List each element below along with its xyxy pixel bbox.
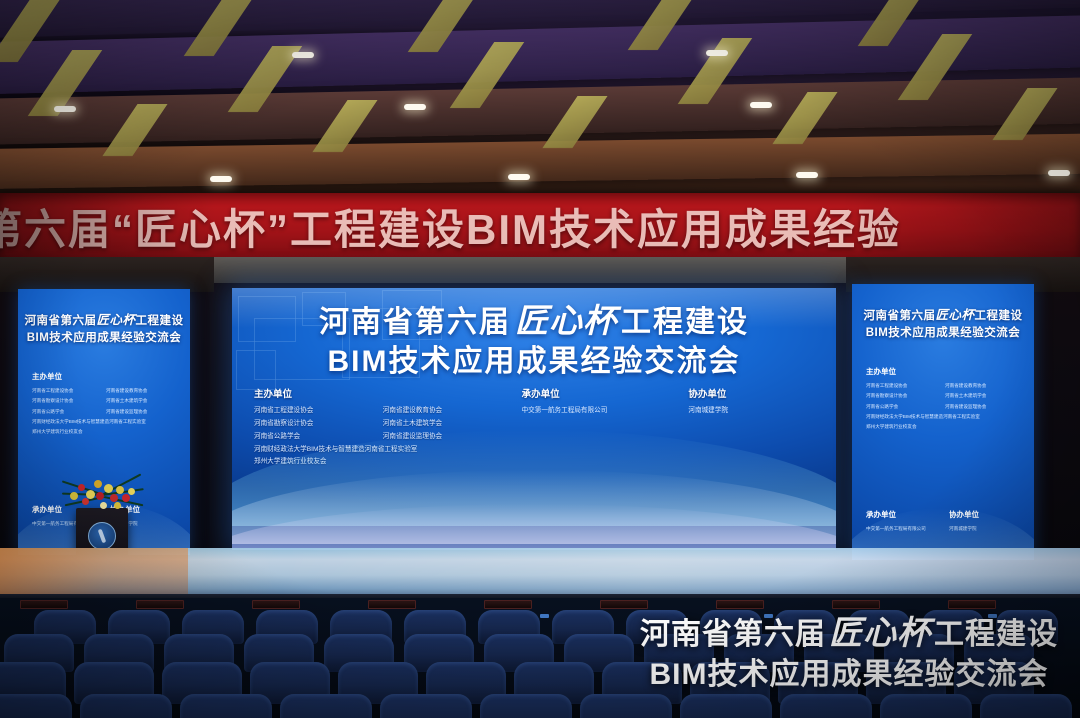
ceiling-downlight bbox=[796, 172, 818, 178]
ceiling bbox=[0, 0, 1080, 196]
coorganizer-label: 协办单位 bbox=[688, 386, 811, 400]
ceiling-downlight bbox=[210, 176, 232, 182]
list-item: 郑州大学建筑行业校友会 bbox=[866, 422, 1024, 432]
list-item: 河南财经政法大学BIM技术与智慧建造河南省工程实验室 bbox=[32, 417, 180, 427]
ceiling-downlight bbox=[404, 104, 426, 110]
right-banner-kxb: 匠心杯 bbox=[935, 308, 974, 322]
left-banner-title-part1: 河南省第六届 bbox=[24, 315, 96, 327]
wall-panel-center bbox=[214, 257, 846, 283]
right-banner-title-part1: 河南省第六届 bbox=[863, 310, 935, 322]
list-item: 河南省建设教育协会 bbox=[945, 381, 1024, 391]
list-item: 河南省工程建设协会 bbox=[254, 405, 383, 418]
undertaker-label: 承办单位 bbox=[522, 386, 679, 400]
ceiling-downlight bbox=[54, 106, 76, 112]
right-banner-title: 河南省第六届匠心杯工程建设 BIM技术应用成果经验交流会 bbox=[852, 306, 1034, 341]
ceiling-downlight bbox=[292, 52, 314, 58]
led-main-title: 河南省第六届匠心杯工程建设 BIM技术应用成果经验交流会 bbox=[232, 302, 836, 381]
right-banner-title-line2: BIM技术应用成果经验交流会 bbox=[866, 327, 1021, 339]
overlay-line2: BIM技术应用成果经验交流会 bbox=[640, 655, 1058, 694]
led-title-part1: 河南省第六届 bbox=[319, 306, 511, 339]
list-item: 郑州大学建筑行业校友会 bbox=[32, 427, 180, 437]
list-item: 河南财经政法大学BIM技术与智慧建造河南省工程实验室 bbox=[866, 412, 1024, 422]
list-item: 中交第一航务工程局有限公司 bbox=[522, 405, 679, 418]
list-item: 河南省土木建筑学会 bbox=[106, 396, 180, 406]
list-item: 河南省工程建设协会 bbox=[866, 381, 945, 391]
list-item: 河南省勘察设计协会 bbox=[254, 418, 383, 431]
ceiling-downlight bbox=[706, 50, 728, 56]
red-stage-banner: 第六届“匠心杯”工程建设BIM技术应用成果经验 bbox=[0, 193, 1080, 259]
list-item: 河南省公路学会 bbox=[32, 407, 106, 417]
led-title-part2: 工程建设 bbox=[621, 306, 749, 339]
floral-arrangement bbox=[52, 472, 156, 520]
ceiling-downlight bbox=[508, 174, 530, 180]
list-item: 河南省建设监理协会 bbox=[106, 407, 180, 417]
overlay-kxb: 匠心杯 bbox=[826, 616, 934, 652]
left-banner-title: 河南省第六届匠心杯工程建设 BIM技术应用成果经验交流会 bbox=[18, 311, 190, 346]
right-banner-organizers: 主办单位 河南省工程建设协会 河南省建设教育协会 河南省勘察设计协会 河南省土木… bbox=[866, 366, 1024, 433]
right-host-label: 主办单位 bbox=[866, 366, 1024, 377]
banner-shading bbox=[0, 193, 1080, 259]
right-standing-banner: 河南省第六届匠心杯工程建设 BIM技术应用成果经验交流会 主办单位 河南省工程建… bbox=[852, 284, 1034, 560]
left-banner-kxb: 匠心杯 bbox=[96, 313, 135, 327]
list-item: 河南省工程建设协会 bbox=[32, 386, 106, 396]
list-item: 河南省土木建筑学会 bbox=[945, 391, 1024, 401]
stage-warm-light-spill bbox=[0, 548, 188, 600]
left-host-list: 河南省工程建设协会 河南省建设教育协会 河南省勘察设计协会 河南省土木建筑学会 … bbox=[32, 386, 180, 438]
overlay-part1: 河南省第六届 bbox=[640, 618, 826, 651]
list-item: 河南省勘察设计协会 bbox=[866, 391, 945, 401]
ceiling-downlight bbox=[1048, 170, 1070, 176]
left-banner-title-part2: 工程建设 bbox=[136, 315, 184, 327]
list-item: 河南省公路学会 bbox=[866, 402, 945, 412]
list-item: 河南省土木建筑学会 bbox=[383, 418, 512, 431]
list-item: 河南省勘察设计协会 bbox=[32, 396, 106, 406]
ceiling-downlight bbox=[750, 102, 772, 108]
list-item: 河南省公路学会 bbox=[254, 431, 383, 444]
bottom-overlay-title: 河南省第六届匠心杯工程建设 BIM技术应用成果经验交流会 bbox=[640, 614, 1058, 694]
list-item: 河南省建设监理协会 bbox=[945, 402, 1024, 412]
wall-panel-left bbox=[0, 257, 214, 292]
overlay-part2: 工程建设 bbox=[934, 618, 1058, 651]
right-host-list: 河南省工程建设协会 河南省建设教育协会 河南省勘察设计协会 河南省土木建筑学会 … bbox=[866, 381, 1024, 433]
host-label: 主办单位 bbox=[254, 386, 512, 400]
list-item: 河南城建学院 bbox=[688, 405, 811, 418]
right-banner-title-part2: 工程建设 bbox=[975, 310, 1023, 322]
led-title-line1: 河南省第六届匠心杯工程建设 bbox=[232, 302, 836, 342]
led-title-kxb: 匠心杯 bbox=[511, 304, 621, 340]
conference-hall-photo: 第六届“匠心杯”工程建设BIM技术应用成果经验 河南省第六届匠心杯工程建设 BI… bbox=[0, 0, 1080, 718]
left-banner-title-line2: BIM技术应用成果经验交流会 bbox=[27, 332, 182, 344]
list-item: 河南省建设教育协会 bbox=[106, 386, 180, 396]
left-banner-organizers: 主办单位 河南省工程建设协会 河南省建设教育协会 河南省勘察设计协会 河南省土木… bbox=[32, 371, 180, 438]
overlay-line1: 河南省第六届匠心杯工程建设 bbox=[640, 614, 1058, 655]
list-item: 河南省建设教育协会 bbox=[383, 405, 512, 418]
left-host-label: 主办单位 bbox=[32, 371, 180, 382]
podium-emblem-icon bbox=[88, 522, 116, 550]
led-title-line2: BIM技术应用成果经验交流会 bbox=[232, 342, 836, 381]
main-led-screen: 河南省第六届匠心杯工程建设 BIM技术应用成果经验交流会 主办单位 河南省工程建… bbox=[232, 288, 836, 550]
